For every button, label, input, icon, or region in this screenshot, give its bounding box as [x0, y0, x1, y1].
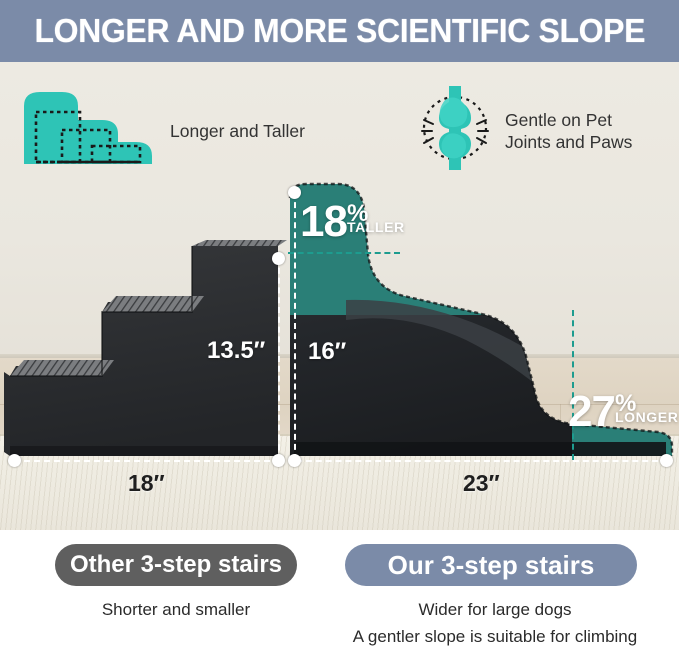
teal-guide-taller-line	[288, 252, 400, 254]
page-title: LONGER AND MORE SCIENTIFIC SLOPE	[34, 12, 645, 50]
badge-number: 18	[300, 202, 347, 242]
feature-longer-and-taller: Longer and Taller	[22, 90, 305, 171]
badge-27-percent-longer: 27 % LONGER	[568, 392, 678, 432]
feature-label-gentle-joints: Gentle on Pet Joints and Paws	[505, 109, 632, 153]
height-line-left	[278, 258, 280, 460]
feature-label-line1: Gentle on Pet	[505, 110, 612, 130]
badge-caption: LONGER	[615, 409, 679, 425]
measure-dot	[288, 454, 301, 467]
pill-our-stairs: Our 3-step stairs	[345, 544, 637, 586]
caption-other: Shorter and smaller	[40, 596, 312, 623]
badge-caption: TALLER	[347, 219, 405, 235]
height-label-right: 16″	[308, 338, 346, 366]
width-label-left: 18″	[128, 470, 165, 497]
feature-label-line2: Joints and Paws	[505, 132, 632, 152]
caption-other-line1: Shorter and smaller	[40, 596, 312, 623]
width-line-right	[296, 460, 668, 462]
joint-bone-icon	[415, 86, 495, 175]
height-label-left: 13.5″	[207, 337, 265, 365]
badge-number: 27	[568, 392, 615, 432]
height-line-right	[294, 192, 296, 460]
width-line-left	[14, 460, 280, 462]
teal-guide-longer-line	[572, 310, 574, 460]
stairs-icon	[22, 90, 156, 171]
pill-other-label: Other 3-step stairs	[70, 551, 282, 579]
product-comparison-scene: Longer and Taller	[0, 62, 679, 530]
measure-dot	[272, 252, 285, 265]
feature-label-longer-taller: Longer and Taller	[170, 120, 305, 142]
width-label-right: 23″	[463, 470, 500, 497]
feature-gentle-on-joints: Gentle on Pet Joints and Paws	[415, 86, 632, 175]
header-banner: LONGER AND MORE SCIENTIFIC SLOPE	[0, 0, 679, 62]
measure-dot	[8, 454, 21, 467]
measure-dot	[272, 454, 285, 467]
infographic-page: LONGER AND MORE SCIENTIFIC SLOPE	[0, 0, 679, 657]
caption-ours: Wider for large dogs A gentler slope is …	[330, 596, 660, 650]
measure-dot	[660, 454, 673, 467]
pill-other-stairs: Other 3-step stairs	[55, 544, 297, 586]
comparison-footer: Other 3-step stairs Our 3-step stairs Sh…	[0, 530, 679, 657]
caption-ours-line2: A gentler slope is suitable for climbing	[330, 623, 660, 650]
badge-18-percent-taller: 18 % TALLER	[300, 202, 405, 242]
pill-our-label: Our 3-step stairs	[388, 550, 595, 581]
caption-ours-line1: Wider for large dogs	[330, 596, 660, 623]
